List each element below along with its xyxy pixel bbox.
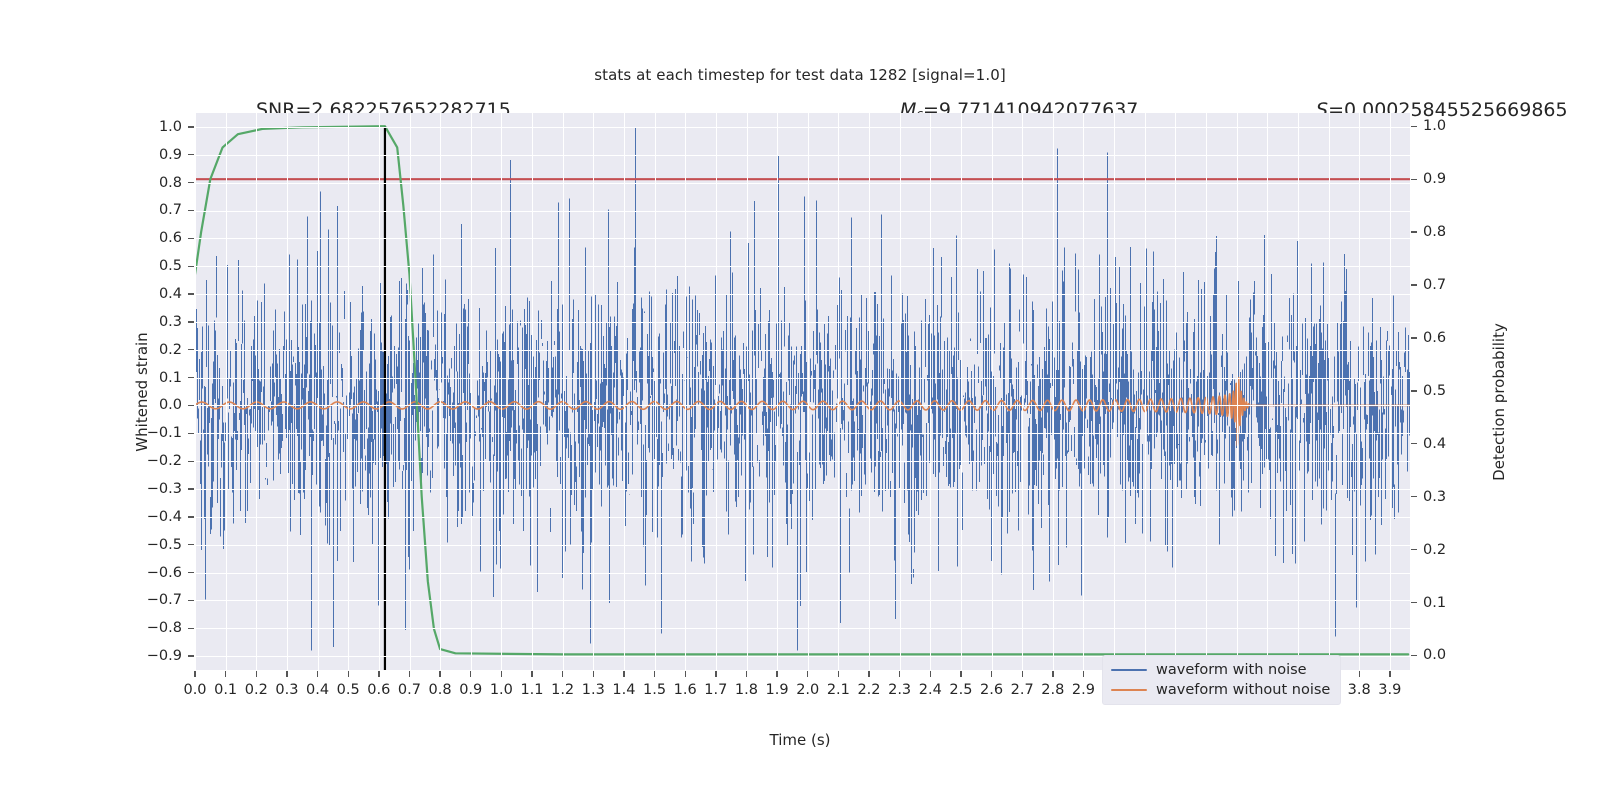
y-tick-left — [188, 516, 194, 517]
x-tick-label: 0.8 — [429, 682, 452, 698]
grid-line-vertical — [1053, 113, 1054, 670]
grid-line-vertical — [471, 113, 472, 670]
grid-line-horizontal — [195, 155, 1410, 156]
x-tick — [715, 671, 716, 677]
x-tick — [317, 671, 318, 677]
x-tick-label: 0.6 — [367, 682, 390, 698]
x-tick-label: 2.7 — [1011, 682, 1034, 698]
x-tick-label: 1.2 — [551, 682, 574, 698]
x-tick — [593, 671, 594, 677]
y-tick-label-right: 0.0 — [1423, 647, 1446, 663]
x-tick — [1052, 671, 1053, 677]
y-tick-label-left: 0.6 — [0, 230, 182, 246]
legend-color-swatch — [1111, 669, 1147, 672]
y-tick-right — [1411, 496, 1417, 497]
y-tick-label-left: 0.8 — [0, 175, 182, 191]
grid-line-vertical — [256, 113, 257, 670]
y-tick-label-left: −0.3 — [0, 481, 182, 497]
y-tick-label-left: 0.2 — [0, 342, 182, 358]
grid-line-vertical — [930, 113, 931, 670]
grid-line-vertical — [838, 113, 839, 670]
x-tick — [1359, 671, 1360, 677]
grid-line-horizontal — [195, 350, 1410, 351]
y-tick-right — [1411, 231, 1417, 232]
y-tick-label-left: −0.8 — [0, 620, 182, 636]
x-tick — [409, 671, 410, 677]
x-tick — [439, 671, 440, 677]
grid-line-vertical — [685, 113, 686, 670]
grid-line-horizontal — [195, 211, 1410, 212]
y-tick-left — [188, 405, 194, 406]
y-tick-left — [188, 182, 194, 183]
grid-line-vertical — [440, 113, 441, 670]
grid-line-vertical — [226, 113, 227, 670]
x-tick-label: 3.9 — [1378, 682, 1401, 698]
grid-line-vertical — [1083, 113, 1084, 670]
y-tick-label-right: 1.0 — [1423, 118, 1446, 134]
x-tick — [256, 671, 257, 677]
legend-item[interactable]: waveform with noise — [1111, 662, 1330, 678]
x-tick-label: 2.2 — [857, 682, 880, 698]
grid-line-vertical — [1175, 113, 1176, 670]
legend-label: waveform with noise — [1156, 662, 1307, 678]
x-tick — [562, 671, 563, 677]
grid-line-vertical — [1359, 113, 1360, 670]
y-tick-label-left: −0.1 — [0, 425, 182, 441]
x-tick-label: 1.4 — [612, 682, 635, 698]
grid-line-horizontal — [195, 405, 1410, 406]
y-tick-left — [188, 655, 194, 656]
y-tick-label-left: 0.0 — [0, 397, 182, 413]
plot-canvas — [195, 113, 1410, 670]
y-tick-left — [188, 293, 194, 294]
grid-line-horizontal — [195, 294, 1410, 295]
x-tick-label: 2.1 — [827, 682, 850, 698]
y-tick-left — [188, 266, 194, 267]
grid-line-vertical — [900, 113, 901, 670]
y-tick-label-left: −0.5 — [0, 537, 182, 553]
grid-line-vertical — [532, 113, 533, 670]
y-tick-left — [188, 544, 194, 545]
y-tick-left — [188, 349, 194, 350]
grid-line-vertical — [1237, 113, 1238, 670]
grid-line-vertical — [716, 113, 717, 670]
y-tick-right — [1411, 390, 1417, 391]
x-tick-label: 0.2 — [245, 682, 268, 698]
grid-line-vertical — [747, 113, 748, 670]
grid-line-vertical — [777, 113, 778, 670]
x-tick — [225, 671, 226, 677]
x-tick — [868, 671, 869, 677]
grid-line-vertical — [1206, 113, 1207, 670]
y-tick-label-right: 0.1 — [1423, 595, 1446, 611]
x-tick-label: 0.9 — [459, 682, 482, 698]
y-tick-left — [188, 377, 194, 378]
grid-line-vertical — [1022, 113, 1023, 670]
x-tick — [348, 671, 349, 677]
x-tick — [501, 671, 502, 677]
x-tick-label: 0.7 — [398, 682, 421, 698]
y-tick-label-right: 0.6 — [1423, 330, 1446, 346]
y-tick-label-right: 0.9 — [1423, 171, 1446, 187]
y-tick-left — [188, 154, 194, 155]
x-tick — [899, 671, 900, 677]
y-tick-right — [1411, 179, 1417, 180]
plot-figure: stats at each timestep for test data 128… — [0, 0, 1600, 800]
grid-line-vertical — [593, 113, 594, 670]
x-tick-label: 2.3 — [888, 682, 911, 698]
grid-line-vertical — [501, 113, 502, 670]
grid-line-vertical — [195, 113, 196, 670]
y-tick-left — [188, 572, 194, 573]
y-tick-right — [1411, 655, 1417, 656]
y-tick-right — [1411, 443, 1417, 444]
legend[interactable]: waveform with noisewaveform without nois… — [1102, 655, 1341, 705]
y-tick-right — [1411, 602, 1417, 603]
grid-line-vertical — [624, 113, 625, 670]
x-tick-label: 0.4 — [306, 682, 329, 698]
x-tick-label: 2.8 — [1041, 682, 1064, 698]
y-tick-label-left: 0.4 — [0, 286, 182, 302]
y-tick-label-left: −0.2 — [0, 453, 182, 469]
y-tick-label-left: −0.7 — [0, 592, 182, 608]
x-tick — [930, 671, 931, 677]
y-tick-right — [1411, 126, 1417, 127]
grid-line-horizontal — [195, 238, 1410, 239]
legend-item[interactable]: waveform without noise — [1111, 682, 1330, 698]
y-tick-left — [188, 210, 194, 211]
y-tick-left — [188, 488, 194, 489]
x-tick — [194, 671, 195, 677]
y-tick-label-right: 0.3 — [1423, 489, 1446, 505]
y-tick-left — [188, 126, 194, 127]
y-tick-label-right: 0.8 — [1423, 224, 1446, 240]
grid-line-vertical — [808, 113, 809, 670]
y-tick-label-left: 1.0 — [0, 119, 182, 135]
grid-line-vertical — [655, 113, 656, 670]
legend-color-swatch — [1111, 689, 1147, 692]
x-tick-label: 1.9 — [766, 682, 789, 698]
grid-line-horizontal — [195, 573, 1410, 574]
y-tick-left — [188, 461, 194, 462]
figure-title: stats at each timestep for test data 128… — [0, 66, 1600, 84]
x-tick-label: 1.7 — [704, 682, 727, 698]
x-tick-label: 1.3 — [582, 682, 605, 698]
x-tick — [685, 671, 686, 677]
grid-line-vertical — [410, 113, 411, 670]
legend-label: waveform without noise — [1156, 682, 1330, 698]
grid-line-horizontal — [195, 266, 1410, 267]
y-tick-label-left: 0.1 — [0, 370, 182, 386]
y-tick-label-right: 0.2 — [1423, 542, 1446, 558]
y-tick-left — [188, 628, 194, 629]
x-tick — [1022, 671, 1023, 677]
x-tick-label: 0.3 — [275, 682, 298, 698]
y-tick-label-left: −0.6 — [0, 565, 182, 581]
x-tick — [623, 671, 624, 677]
y-tick-label-left: 0.5 — [0, 258, 182, 274]
x-tick-label: 3.8 — [1348, 682, 1371, 698]
grid-line-vertical — [1329, 113, 1330, 670]
x-tick — [1389, 671, 1390, 677]
y-tick-label-left: −0.4 — [0, 509, 182, 525]
y-tick-label-right: 0.5 — [1423, 383, 1446, 399]
y-tick-left — [188, 321, 194, 322]
x-tick-label: 2.5 — [949, 682, 972, 698]
y-tick-left — [188, 600, 194, 601]
grid-line-horizontal — [195, 545, 1410, 546]
x-tick — [654, 671, 655, 677]
grid-line-vertical — [992, 113, 993, 670]
x-tick-label: 0.1 — [214, 682, 237, 698]
grid-line-vertical — [379, 113, 380, 670]
x-tick-label: 1.0 — [490, 682, 513, 698]
grid-line-horizontal — [195, 433, 1410, 434]
grid-line-vertical — [1114, 113, 1115, 670]
grid-line-horizontal — [195, 322, 1410, 323]
y-tick-right — [1411, 337, 1417, 338]
grid-line-vertical — [318, 113, 319, 670]
x-axis-label: Time (s) — [0, 731, 1600, 749]
grid-line-horizontal — [195, 517, 1410, 518]
x-tick-label: 2.6 — [980, 682, 1003, 698]
x-tick — [776, 671, 777, 677]
y-tick-left — [188, 433, 194, 434]
x-tick — [531, 671, 532, 677]
y-tick-label-left: −0.9 — [0, 648, 182, 664]
y-axis-left-label: Whitened strain — [133, 332, 151, 451]
x-tick-label: 1.8 — [735, 682, 758, 698]
grid-line-vertical — [1267, 113, 1268, 670]
y-tick-label-left: 0.3 — [0, 314, 182, 330]
y-tick-label-right: 0.7 — [1423, 277, 1446, 293]
y-tick-right — [1411, 549, 1417, 550]
grid-line-horizontal — [195, 127, 1410, 128]
grid-line-horizontal — [195, 628, 1410, 629]
x-tick-label: 2.4 — [919, 682, 942, 698]
y-axis-right-label: Detection probability — [1490, 323, 1508, 481]
grid-line-horizontal — [195, 378, 1410, 379]
x-tick — [746, 671, 747, 677]
x-tick-label: 1.6 — [674, 682, 697, 698]
x-tick — [807, 671, 808, 677]
grid-line-vertical — [563, 113, 564, 670]
x-tick-label: 0.5 — [337, 682, 360, 698]
grid-line-vertical — [348, 113, 349, 670]
plot-axes — [195, 113, 1410, 670]
grid-line-horizontal — [195, 183, 1410, 184]
y-tick-left — [188, 238, 194, 239]
x-tick — [378, 671, 379, 677]
grid-line-horizontal — [195, 461, 1410, 462]
x-tick-label: 2.9 — [1072, 682, 1095, 698]
grid-line-vertical — [1390, 113, 1391, 670]
y-tick-label-left: 0.9 — [0, 147, 182, 163]
grid-line-vertical — [1298, 113, 1299, 670]
x-tick — [1083, 671, 1084, 677]
grid-line-vertical — [287, 113, 288, 670]
y-tick-label-left: 0.7 — [0, 202, 182, 218]
x-tick — [286, 671, 287, 677]
x-tick-label: 2.0 — [796, 682, 819, 698]
x-tick-label: 1.1 — [520, 682, 543, 698]
grid-line-vertical — [869, 113, 870, 670]
x-tick-label: 1.5 — [643, 682, 666, 698]
x-tick — [838, 671, 839, 677]
x-tick — [960, 671, 961, 677]
grid-line-vertical — [961, 113, 962, 670]
x-tick-label: 0.0 — [183, 682, 206, 698]
grid-line-horizontal — [195, 600, 1410, 601]
x-tick — [991, 671, 992, 677]
y-tick-right — [1411, 284, 1417, 285]
grid-line-horizontal — [195, 489, 1410, 490]
grid-line-vertical — [1145, 113, 1146, 670]
x-tick — [470, 671, 471, 677]
y-tick-label-right: 0.4 — [1423, 436, 1446, 452]
